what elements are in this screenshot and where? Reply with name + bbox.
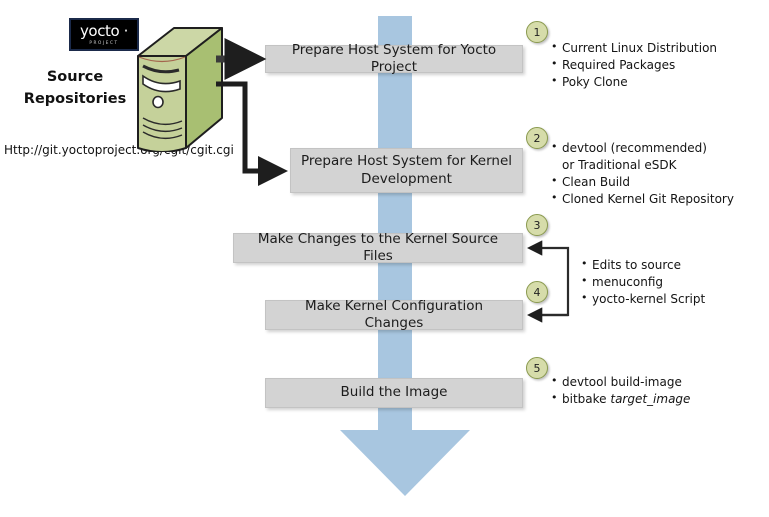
step-circle-1: 1 [526, 21, 548, 43]
process-box-kernel-line2: Development [361, 171, 452, 187]
source-repositories-label-line1: Source [10, 66, 140, 88]
yocto-logo-wordmark: yocto · [80, 24, 128, 39]
bitbake-target-image-italic: target_image [610, 392, 690, 406]
process-box-prepare-host-kernel[interactable]: Prepare Host System for Kernel Developme… [290, 148, 523, 193]
list-item: Required Packages [551, 57, 717, 74]
step-circle-3: 3 [526, 214, 548, 236]
step-5-bullet-list: devtool build-image bitbake target_image [551, 374, 690, 408]
list-item: bitbake target_image [551, 391, 690, 408]
process-box-make-source-changes[interactable]: Make Changes to the Kernel Source Files [233, 233, 523, 263]
workflow-backbone-arrow-head [340, 430, 470, 496]
diagram-canvas: yocto · PROJECT Source Repositories Http… [0, 0, 769, 517]
list-item: Edits to source [581, 257, 705, 274]
workflow-backbone-arrow-shaft [378, 16, 412, 436]
step-circle-4: 4 [526, 281, 548, 303]
list-item: Clean Build [551, 174, 734, 191]
process-box-build-image[interactable]: Build the Image [265, 378, 523, 408]
step-circle-5: 5 [526, 357, 548, 379]
list-item: Poky Clone [551, 74, 717, 91]
process-box-kernel-line1: Prepare Host System for Kernel [301, 153, 512, 169]
process-box-prepare-host-kernel-text: Prepare Host System for Kernel Developme… [301, 153, 512, 188]
list-item: devtool (recommended) or Traditional eSD… [551, 140, 711, 174]
steps-3-and-4-bullet-list: Edits to source menuconfig yocto-kernel … [581, 257, 705, 308]
list-item: menuconfig [581, 274, 705, 291]
yocto-project-logo: yocto · PROJECT [69, 18, 139, 51]
bitbake-command-prefix: bitbake [562, 392, 610, 406]
yocto-logo-subtext: PROJECT [89, 41, 118, 45]
step-2-bullet-list: devtool (recommended) or Traditional eSD… [551, 140, 734, 208]
step-1-bullet-list: Current Linux Distribution Required Pack… [551, 40, 717, 91]
source-repositories-label: Source Repositories [10, 66, 140, 111]
list-item: Cloned Kernel Git Repository [551, 191, 734, 208]
source-repositories-label-line2: Repositories [10, 88, 140, 110]
server-icon [134, 26, 224, 152]
process-box-make-config-changes[interactable]: Make Kernel Configuration Changes [265, 300, 523, 330]
step-circle-2: 2 [526, 127, 548, 149]
list-item: yocto-kernel Script [581, 291, 705, 308]
list-item: devtool build-image [551, 374, 690, 391]
process-box-prepare-host-yocto[interactable]: Prepare Host System for Yocto Project [265, 45, 523, 73]
list-item: Current Linux Distribution [551, 40, 717, 57]
